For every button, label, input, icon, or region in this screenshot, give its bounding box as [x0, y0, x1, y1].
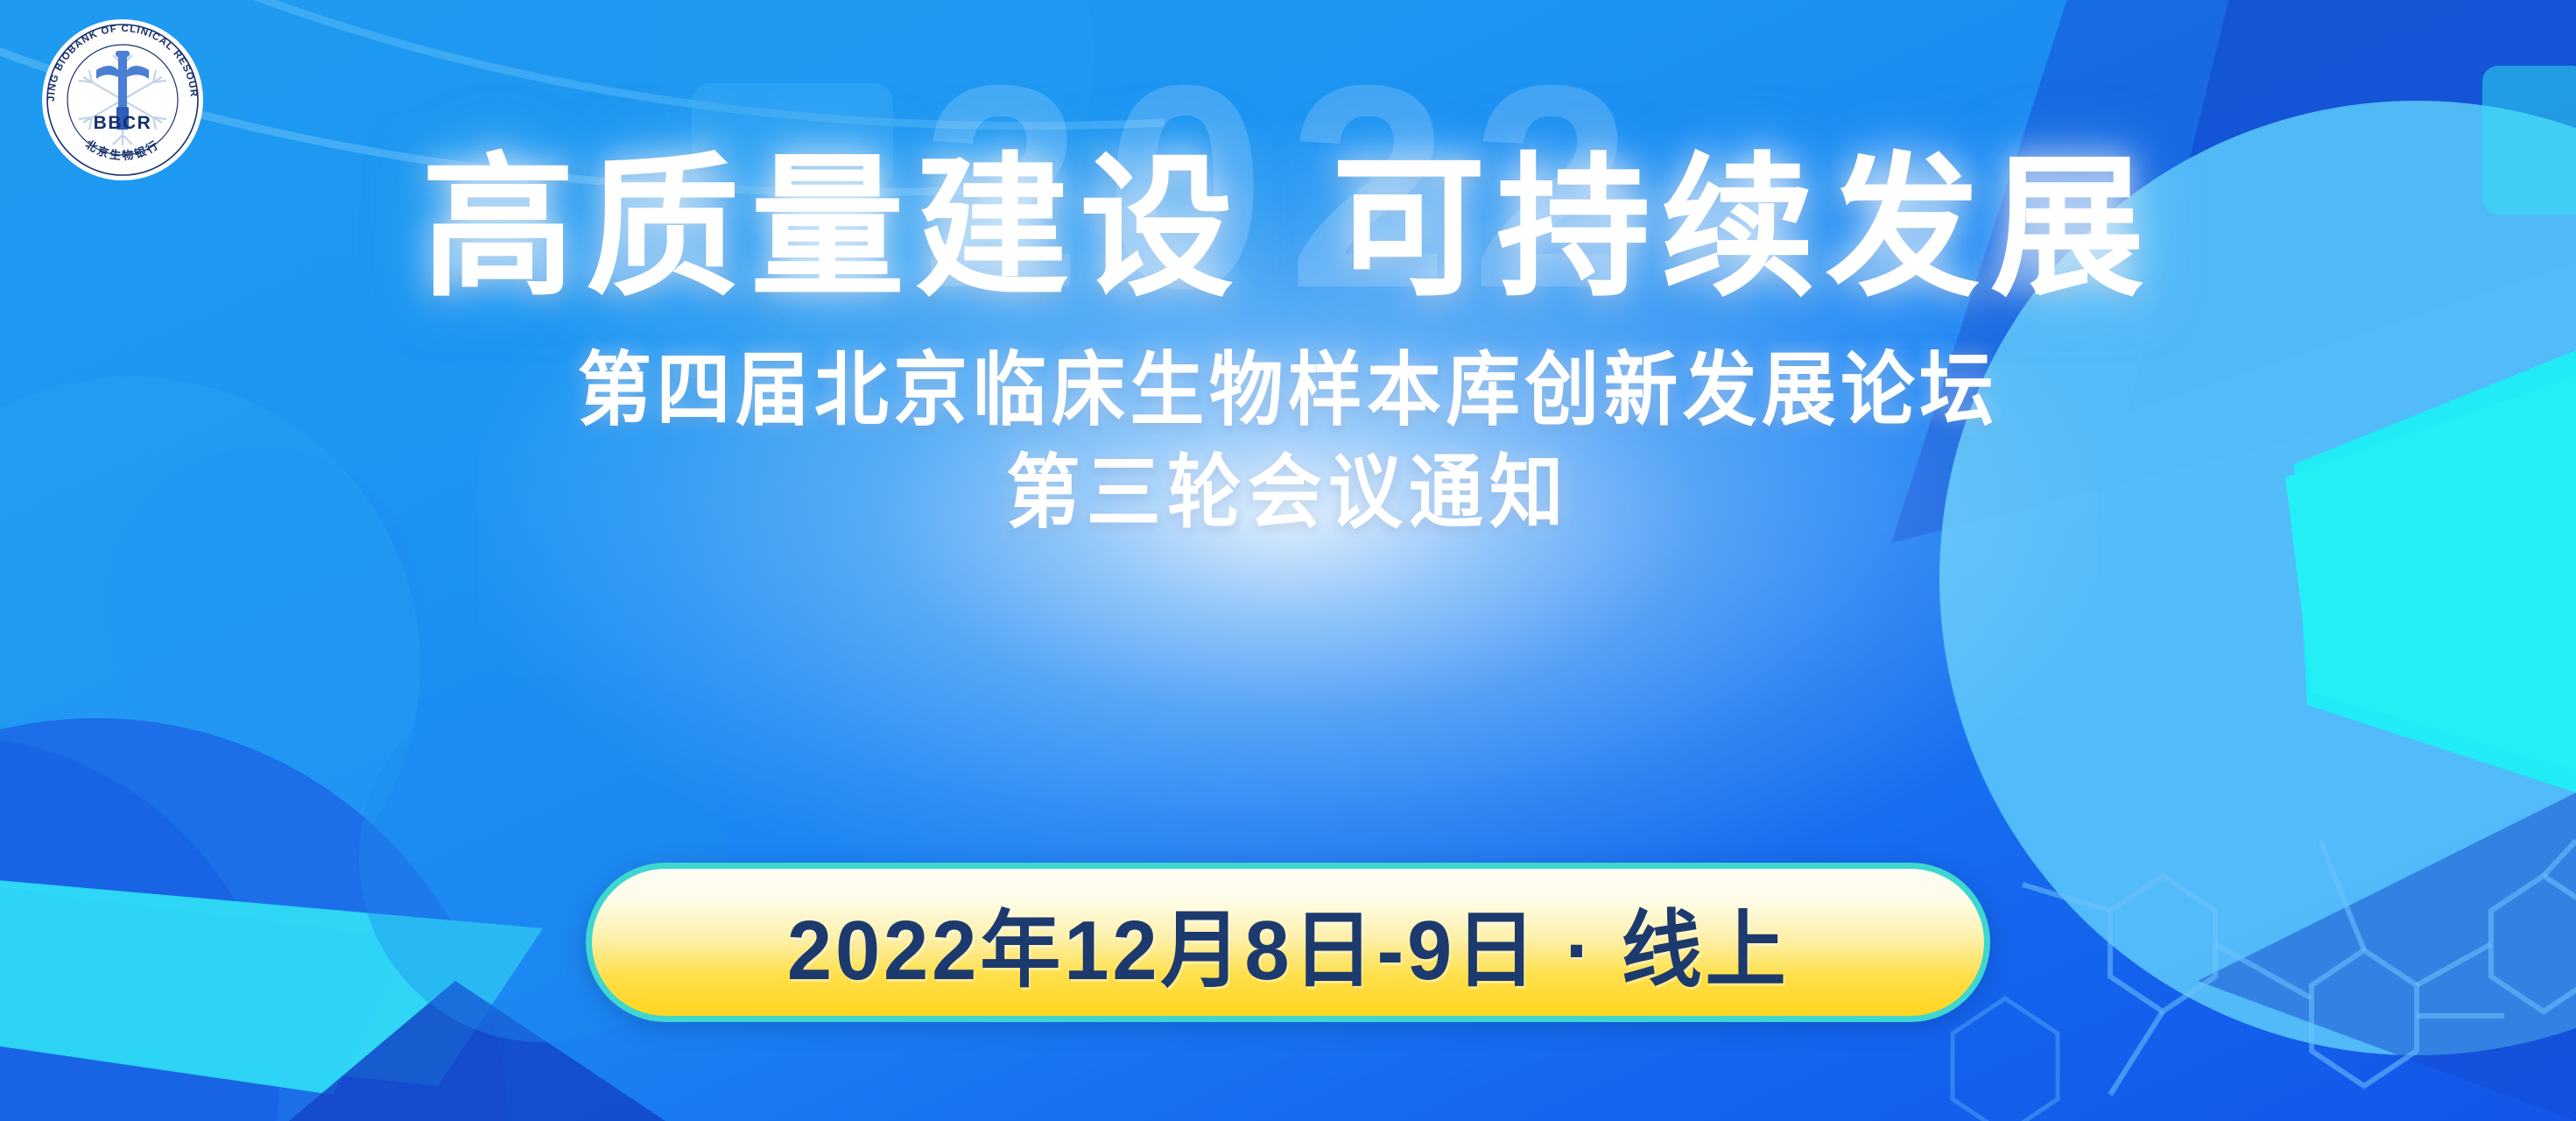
headline: 高质量建设 可持续发展: [421, 147, 2155, 311]
date-pill-wrapper: 2022年12月8日-9日 · 线上: [586, 863, 1990, 1022]
conference-banner: 2022: [0, 0, 2576, 1121]
date-pill-text: 2022年12月8日-9日 · 线上: [787, 882, 1790, 1004]
date-pill: 2022年12月8日-9日 · 线上: [586, 863, 1990, 1022]
headline-part-1: 高质量建设: [421, 147, 1244, 311]
subtitle-line-2: 第三轮会议通知: [1006, 448, 1570, 539]
headline-part-2: 可持续发展: [1332, 147, 2155, 311]
subtitle-line-1: 第四届北京临床生物样本库创新发展论坛: [578, 346, 1999, 436]
